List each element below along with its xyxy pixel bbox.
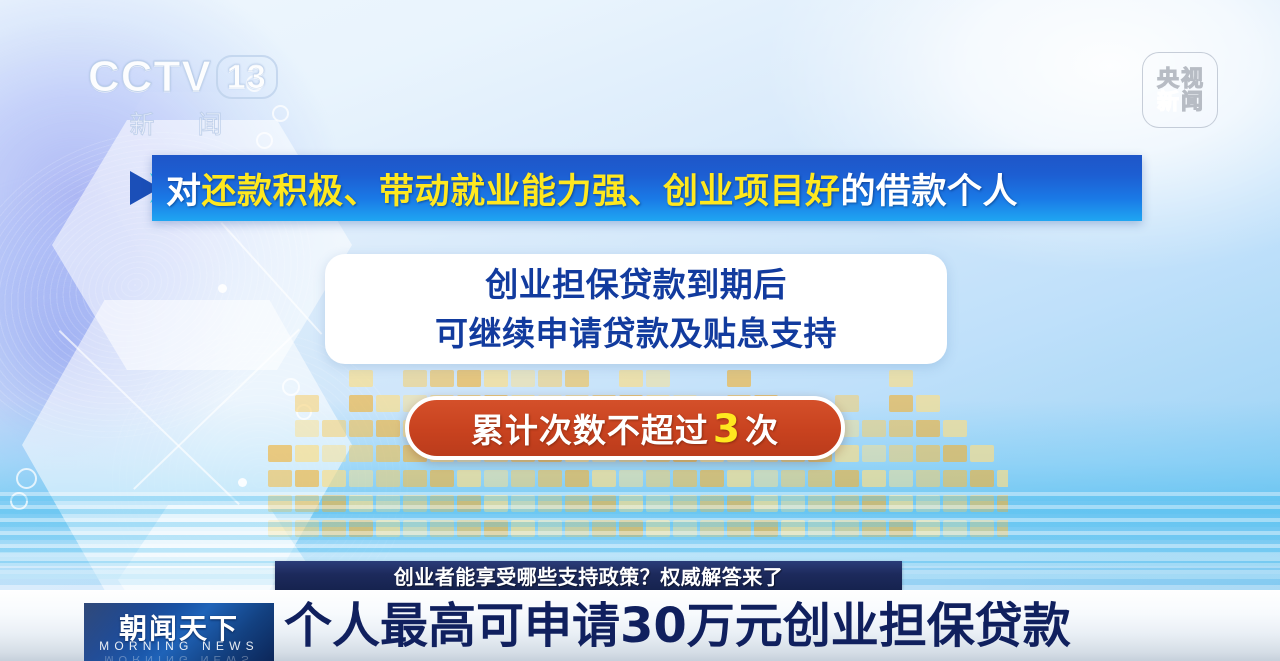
decorative-dot [218, 284, 227, 293]
decorative-ring-2 [272, 105, 289, 122]
cctv-wordmark: CCTV [88, 52, 212, 102]
limit-badge-prefix: 累计次数不超过 [471, 411, 709, 450]
cctv13-logo: CCTV 13 新 闻 [88, 52, 268, 140]
limit-badge-number: 3 [709, 407, 745, 452]
watermark-char-xin: 新 [1157, 90, 1179, 113]
info-card-line-1: 创业担保贷款到期后 [485, 260, 787, 309]
lower-third-headline: 个人最高可申请30万元创业担保贷款 [284, 595, 1071, 657]
decorative-dot-2 [238, 478, 247, 487]
banner-prefix: 对 [166, 172, 202, 212]
program-name-en-reflection: MORNING NEWS [84, 653, 274, 661]
cctv-channel-number: 13 [216, 55, 278, 99]
banner-highlight: 还款积极、带动就业能力强、创业项目好 [202, 172, 841, 212]
highlight-banner: 对还款积极、带动就业能力强、创业项目好的借款个人 [152, 155, 1142, 221]
watermark-char-yang: 央 [1157, 67, 1179, 90]
program-name-en: MORNING NEWS [84, 639, 274, 653]
cctv-news-watermark: 央 视 新 闻 [1142, 52, 1218, 128]
broadcast-screen: CCTV 13 新 闻 央 视 新 闻 对还款积极、带动就业能力强、创业项目好的… [0, 0, 1280, 661]
lower-third-kicker-bar: 创业者能享受哪些支持政策？权威解答来了 [275, 561, 902, 590]
watermark-char-wen: 闻 [1181, 90, 1203, 113]
cctv-channel-subtitle: 新 闻 [88, 105, 268, 141]
limit-badge-suffix: 次 [745, 411, 779, 450]
watermark-char-shi: 视 [1181, 67, 1203, 90]
banner-suffix: 的借款个人 [841, 172, 1019, 212]
decorative-ring-6 [16, 468, 37, 489]
lower-third-kicker: 创业者能享受哪些支持政策？权威解答来了 [394, 561, 784, 590]
program-logo: 朝闻天下 MORNING NEWS MORNING NEWS [84, 603, 274, 661]
info-card: 创业担保贷款到期后 可继续申请贷款及贴息支持 [325, 254, 947, 364]
info-card-line-2: 可继续申请贷款及贴息支持 [435, 309, 837, 358]
limit-badge: 累计次数不超过3次 [405, 396, 845, 460]
